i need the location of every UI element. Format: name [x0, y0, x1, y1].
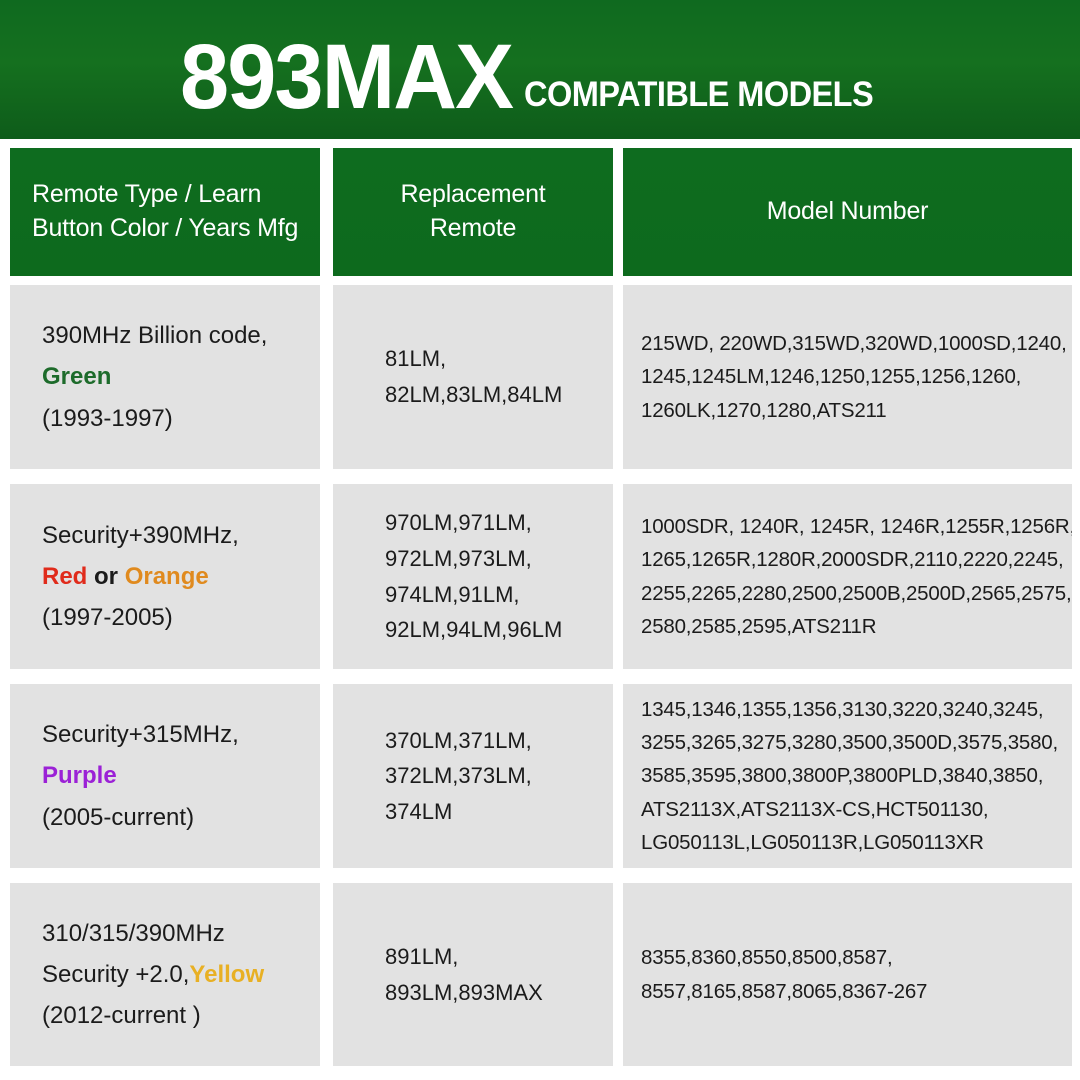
row-3-replacement-line: 370LM,371LM, [385, 723, 593, 759]
column-header-remote-type: Remote Type / Learn Button Color / Years… [10, 148, 320, 276]
row-4-learn-button-color: Yellow [189, 961, 264, 988]
row-4-model-number-cell: 8355,8360,8550,8500,8587, 8557,8165,8587… [623, 883, 1072, 1066]
row-3-model-line: 1345,1346,1355,1356,3130,3220,3240,3245, [641, 693, 1052, 726]
row-3-replacement-line: 374LM [385, 794, 593, 830]
row-2-replacement-line: 92LM,94LM,96LM [385, 612, 593, 648]
row-3-model-line: 3255,3265,3275,3280,3500,3500D,3575,3580… [641, 726, 1052, 759]
row-2-remote-type-cell: Security+390MHz, Red or Orange (1997-200… [10, 484, 320, 669]
header-banner: 893MAX COMPATIBLE MODELS [0, 0, 1080, 139]
banner-subtitle: COMPATIBLE MODELS [524, 77, 873, 112]
column-header-replacement-line1: Replacement [400, 178, 545, 212]
row-2-model-line: 1265,1265R,1280R,2000SDR,2110,2220,2245, [641, 543, 1052, 576]
row-2-model-number-cell: 1000SDR, 1240R, 1245R, 1246R,1255R,1256R… [623, 484, 1072, 669]
row-2-replacement-line: 974LM,91LM, [385, 577, 593, 613]
row-2-model-line: 1000SDR, 1240R, 1245R, 1246R,1255R,1256R… [641, 510, 1052, 543]
row-1-replacement-remote-cell: 81LM, 82LM,83LM,84LM [333, 285, 613, 469]
column-header-remote-type-line1: Remote Type / Learn [32, 178, 261, 212]
row-2-replacement-line: 970LM,971LM, [385, 505, 593, 541]
row-1-replacement-line: 81LM, [385, 341, 593, 377]
row-3-learn-button-color: Purple [42, 755, 300, 796]
row-3-remote-type-cell: Security+315MHz, Purple (2005-current) [10, 684, 320, 868]
row-4-learn-button-color-group: Security +2.0,Yellow [42, 954, 300, 995]
row-2-model-line: 2255,2265,2280,2500,2500B,2500D,2565,257… [641, 577, 1052, 610]
row-3-model-line: LG050113L,LG050113R,LG050113XR [641, 826, 1052, 859]
row-3-model-line: 3585,3595,3800,3800P,3800PLD,3840,3850, [641, 759, 1052, 792]
compatibility-chart: 893MAX COMPATIBLE MODELS Remote Type / L… [0, 0, 1080, 1080]
compatibility-table: Remote Type / Learn Button Color / Years… [0, 139, 1080, 1080]
row-4-replacement-line: 893LM,893MAX [385, 975, 593, 1011]
column-header-model-number: Model Number [623, 148, 1072, 276]
row-2-learn-button-color-red: Red [42, 563, 87, 590]
row-1-model-line: 1245,1245LM,1246,1250,1255,1256,1260, [641, 360, 1052, 393]
row-1-model-line: 1260LK,1270,1280,ATS211 [641, 394, 1052, 427]
row-4-years: (2012-current ) [42, 995, 300, 1036]
row-2-replacement-remote-cell: 970LM,971LM, 972LM,973LM, 974LM,91LM, 92… [333, 484, 613, 669]
column-header-model-number-label: Model Number [767, 195, 929, 229]
row-3-years: (2005-current) [42, 797, 300, 838]
row-1-replacement-line: 82LM,83LM,84LM [385, 377, 593, 413]
row-1-learn-button-color: Green [42, 356, 300, 397]
row-4-remote-type-cell: 310/315/390MHz Security +2.0,Yellow (201… [10, 883, 320, 1066]
row-3-model-line: ATS2113X,ATS2113X-CS,HCT501130, [641, 793, 1052, 826]
row-4-model-line: 8355,8360,8550,8500,8587, [641, 941, 1052, 974]
row-4-model-line: 8557,8165,8587,8065,8367-267 [641, 975, 1052, 1008]
product-title: 893MAX [180, 34, 512, 121]
table-header-row: Remote Type / Learn Button Color / Years… [0, 148, 1080, 276]
header-banner-text-group: 893MAX COMPATIBLE MODELS [180, 34, 899, 121]
row-3-frequency: Security+315MHz, [42, 714, 300, 755]
column-header-replacement-line2: Remote [430, 212, 516, 246]
row-2-frequency: Security+390MHz, [42, 515, 300, 556]
row-1-frequency: 390MHz Billion code, [42, 315, 300, 356]
row-4-replacement-line: 891LM, [385, 939, 593, 975]
row-3-replacement-remote-cell: 370LM,371LM, 372LM,373LM, 374LM [333, 684, 613, 868]
row-1-years: (1993-1997) [42, 398, 300, 439]
row-2-years: (1997-2005) [42, 597, 300, 638]
row-2-color-conjunction: or [87, 563, 124, 590]
row-4-frequency: 310/315/390MHz [42, 913, 300, 954]
row-4-security-label: Security +2.0, [42, 961, 189, 988]
row-2-replacement-line: 972LM,973LM, [385, 541, 593, 577]
row-2-model-line: 2580,2585,2595,ATS211R [641, 610, 1052, 643]
row-1-remote-type-cell: 390MHz Billion code, Green (1993-1997) [10, 285, 320, 469]
column-header-remote-type-line2: Button Color / Years Mfg [32, 212, 298, 246]
row-4-replacement-remote-cell: 891LM, 893LM,893MAX [333, 883, 613, 1066]
column-header-replacement-remote: Replacement Remote [333, 148, 613, 276]
row-2-learn-button-color-orange: Orange [125, 563, 209, 590]
row-3-replacement-line: 372LM,373LM, [385, 758, 593, 794]
row-1-model-number-cell: 215WD, 220WD,315WD,320WD,1000SD,1240, 12… [623, 285, 1072, 469]
row-1-model-line: 215WD, 220WD,315WD,320WD,1000SD,1240, [641, 327, 1052, 360]
row-3-model-number-cell: 1345,1346,1355,1356,3130,3220,3240,3245,… [623, 684, 1072, 868]
row-2-learn-button-color-group: Red or Orange [42, 556, 300, 597]
